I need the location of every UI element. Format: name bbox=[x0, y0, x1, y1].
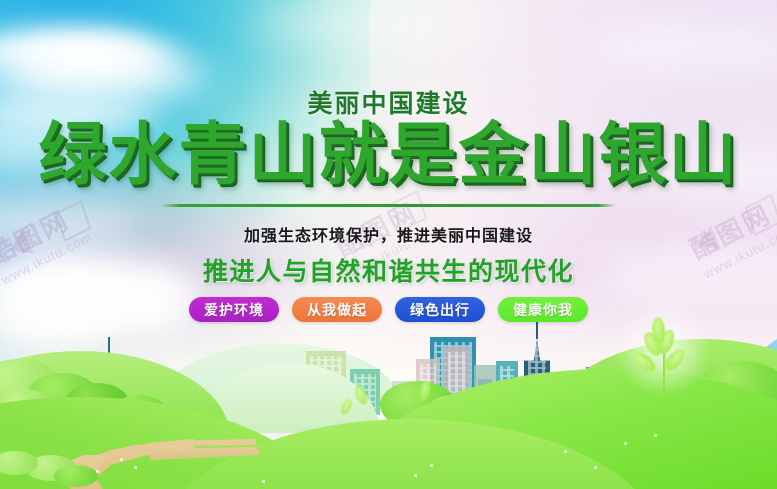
cloud-top-center bbox=[250, 4, 510, 44]
grass-speck-8 bbox=[594, 466, 597, 469]
grass-speck-6 bbox=[430, 464, 433, 467]
subtitle-primary: 加强生态环境保护，推进美丽中国建设 bbox=[0, 222, 777, 246]
grass-speck-4 bbox=[262, 480, 265, 483]
tag-pill-green-travel[interactable]: 绿色出行 bbox=[395, 297, 485, 322]
poster-canvas: 酷图网 www.ikutu.com 酷图网 www.ikutu.com 酷图网 … bbox=[0, 0, 777, 489]
grass-speck-1 bbox=[120, 458, 123, 461]
subtitle-secondary: 推进人与自然和谐共生的现代化 bbox=[0, 252, 777, 288]
grass-speck-9 bbox=[624, 442, 627, 445]
grass-speck-5 bbox=[414, 474, 417, 477]
eyebrow-text: 美丽中国建设 bbox=[0, 84, 777, 120]
page-title: 绿水青山就是金山银山 bbox=[0, 121, 777, 189]
grass-speck-3 bbox=[96, 470, 99, 473]
sprout-stem bbox=[663, 351, 665, 393]
grass-speck-2 bbox=[134, 466, 137, 469]
grass-speck-10 bbox=[654, 434, 657, 437]
grass-speck-7 bbox=[564, 450, 567, 453]
tag-pill-row: 爱护环境 从我做起 绿色出行 健康你我 bbox=[0, 297, 777, 322]
tag-pill-protect-environment[interactable]: 爱护环境 bbox=[189, 297, 279, 322]
bush-foreground-b bbox=[54, 465, 98, 487]
tag-pill-start-with-me[interactable]: 从我做起 bbox=[292, 297, 382, 322]
title-divider bbox=[161, 204, 616, 207]
tag-pill-health-you-and-me[interactable]: 健康你我 bbox=[498, 297, 588, 322]
